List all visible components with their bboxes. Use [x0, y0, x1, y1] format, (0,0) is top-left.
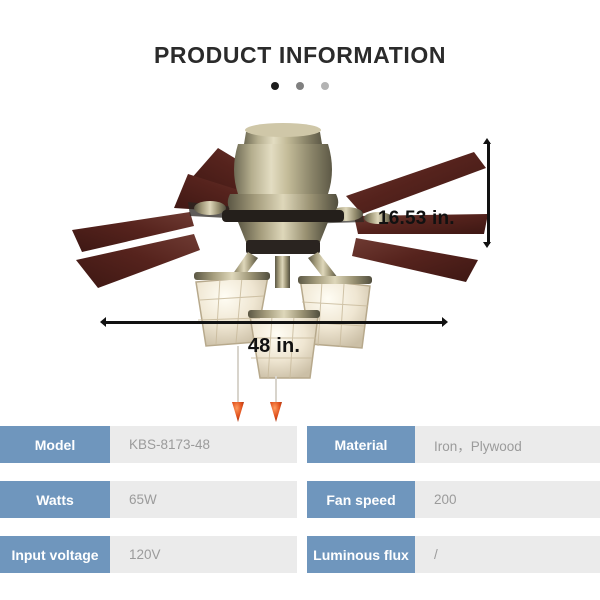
dot-3-icon[interactable]: [321, 82, 329, 90]
spec-value-material: Iron，Plywood: [415, 426, 600, 463]
height-dimension-label: 16.53 in.: [378, 208, 455, 230]
spec-value-fan-speed: 200: [415, 481, 600, 518]
dot-1-icon[interactable]: [271, 82, 279, 90]
height-dimension-line: [483, 138, 492, 248]
spec-cell-model: Model KBS-8173-48: [0, 426, 297, 463]
pull-chain-finial-2: [270, 402, 282, 422]
motor-housing: [222, 123, 344, 254]
product-image: [70, 110, 490, 430]
table-row: Model KBS-8173-48 Material Iron，Plywood: [0, 426, 600, 463]
spec-label-watts: Watts: [0, 481, 110, 518]
spec-cell-input-voltage: Input voltage 120V: [0, 536, 297, 573]
spec-cell-material: Material Iron，Plywood: [307, 426, 600, 463]
ceiling-fan-illustration: [70, 110, 490, 430]
spec-cell-watts: Watts 65W: [0, 481, 297, 518]
table-row: Watts 65W Fan speed 200: [0, 481, 600, 518]
spec-cell-fan-speed: Fan speed 200: [307, 481, 600, 518]
page-title: PRODUCT INFORMATION: [0, 42, 600, 69]
spec-label-luminous-flux: Luminous flux: [307, 536, 415, 573]
spec-value-watts: 65W: [110, 481, 297, 518]
spec-label-fan-speed: Fan speed: [307, 481, 415, 518]
width-dimension-label: 48 in.: [0, 335, 548, 358]
table-row: Input voltage 120V Luminous flux /: [0, 536, 600, 573]
dot-2-icon[interactable]: [296, 82, 304, 90]
spec-value-luminous-flux: /: [415, 536, 600, 573]
pull-chain-finial-1: [232, 402, 244, 422]
spec-value-model: KBS-8173-48: [110, 426, 297, 463]
width-dimension-line: [100, 317, 448, 327]
spec-value-input-voltage: 120V: [110, 536, 297, 573]
specification-table: Model KBS-8173-48 Material Iron，Plywood …: [0, 426, 600, 591]
carousel-dots[interactable]: [0, 82, 600, 90]
spec-label-input-voltage: Input voltage: [0, 536, 110, 573]
spec-cell-luminous-flux: Luminous flux /: [307, 536, 600, 573]
spec-label-model: Model: [0, 426, 110, 463]
product-information-page: PRODUCT INFORMATION: [0, 0, 600, 600]
spec-label-material: Material: [307, 426, 415, 463]
